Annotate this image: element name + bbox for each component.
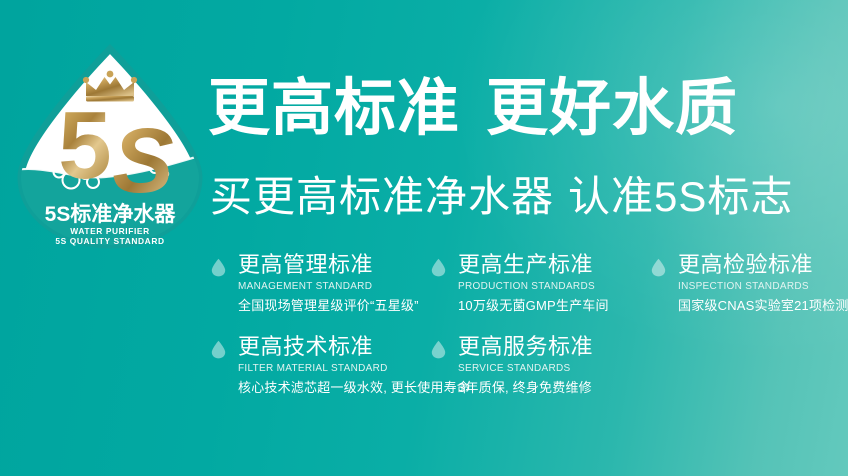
feature-description: 10万级无菌GMP生产车间 bbox=[458, 297, 644, 314]
feature-title: 更高管理标准 bbox=[238, 252, 424, 278]
water-drop-icon bbox=[651, 258, 666, 277]
feature-item-service: 更高服务标准 SERVICE STANDARDS 3年质保, 终身免费维修 bbox=[428, 334, 644, 396]
feature-description: 国家级CNAS实验室21项检测 bbox=[678, 297, 848, 314]
feature-title: 更高生产标准 bbox=[458, 252, 644, 278]
feature-english: PRODUCTION STANDARDS bbox=[458, 280, 644, 293]
logo-brand-en-line1: WATER PURIFIER bbox=[70, 226, 149, 236]
water-drop-icon bbox=[211, 340, 226, 359]
feature-english: FILTER MATERIAL STANDARD bbox=[238, 362, 424, 375]
feature-description: 核心技术滤芯超一级水效, 更长使用寿命 bbox=[238, 379, 424, 396]
feature-description: 全国现场管理星级评价“五星级” bbox=[238, 297, 424, 314]
logo-brand-en-line2: 5S QUALITY STANDARD bbox=[55, 236, 164, 246]
feature-title: 更高服务标准 bbox=[458, 334, 644, 360]
feature-item-production: 更高生产标准 PRODUCTION STANDARDS 10万级无菌GMP生产车… bbox=[428, 252, 644, 314]
feature-title: 更高检验标准 bbox=[678, 252, 848, 278]
feature-english: MANAGEMENT STANDARD bbox=[238, 280, 424, 293]
headline-part1: 更高标准 bbox=[208, 74, 460, 143]
feature-title: 更高技术标准 bbox=[238, 334, 424, 360]
subheadline: 买更高标准净水器认准5S标志 bbox=[210, 176, 793, 218]
feature-english: SERVICE STANDARDS bbox=[458, 362, 644, 375]
feature-item-technology: 更高技术标准 FILTER MATERIAL STANDARD 核心技术滤芯超一… bbox=[208, 334, 424, 396]
brand-logo: 5 S 5S标准净水器 WATER PURIFIER 5S QUALITY ST… bbox=[13, 44, 207, 250]
feature-item-inspection: 更高检验标准 INSPECTION STANDARDS 国家级CNAS实验室21… bbox=[648, 252, 848, 314]
logo-brand-cn: 5S标准净水器 bbox=[45, 202, 177, 226]
water-drop-icon bbox=[211, 258, 226, 277]
logo-s-glyph: S bbox=[112, 110, 173, 212]
feature-item-management: 更高管理标准 MANAGEMENT STANDARD 全国现场管理星级评价“五星… bbox=[208, 252, 424, 314]
feature-grid: 更高管理标准 MANAGEMENT STANDARD 全国现场管理星级评价“五星… bbox=[208, 252, 844, 412]
subheadline-part2: 认准5S标志 bbox=[568, 173, 793, 220]
water-drop-icon bbox=[431, 340, 446, 359]
water-drop-icon bbox=[431, 258, 446, 277]
feature-english: INSPECTION STANDARDS bbox=[678, 280, 848, 293]
promo-banner: 5 S 5S标准净水器 WATER PURIFIER 5S QUALITY ST… bbox=[0, 0, 848, 476]
feature-description: 3年质保, 终身免费维修 bbox=[458, 379, 644, 396]
headline-part2: 更好水质 bbox=[486, 74, 738, 143]
subheadline-part1: 买更高标准净水器 bbox=[210, 173, 554, 220]
logo-5-glyph: 5 bbox=[58, 92, 111, 199]
headline: 更高标准更好水质 bbox=[208, 78, 738, 140]
